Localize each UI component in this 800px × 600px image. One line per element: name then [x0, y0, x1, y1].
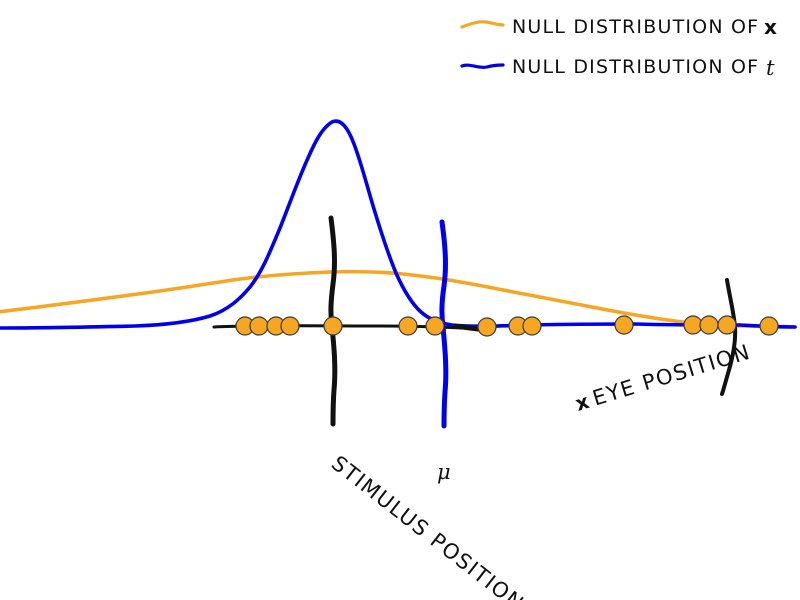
data-point	[700, 316, 718, 334]
data-point	[523, 317, 541, 335]
legend-variable-t: t	[766, 56, 775, 80]
x-eye-position-variable: x	[572, 389, 591, 416]
figure-root: NULL DISTRIBUTION OF x NULL DISTRIBUTION…	[0, 0, 800, 600]
eye-position-tick	[722, 280, 735, 394]
legend-label-x: NULL DISTRIBUTION OF	[512, 16, 759, 38]
data-point	[281, 317, 299, 335]
legend-entry-null-distribution-t: NULL DISTRIBUTION OF t	[462, 56, 775, 80]
blue-line-swatch	[462, 65, 503, 67]
data-point	[684, 316, 702, 334]
orange-line-swatch	[462, 22, 503, 27]
data-point	[478, 318, 496, 336]
legend-entry-null-distribution-x: NULL DISTRIBUTION OF x	[462, 15, 777, 39]
data-point	[615, 316, 633, 334]
chart-canvas: NULL DISTRIBUTION OF x NULL DISTRIBUTION…	[0, 0, 800, 600]
data-point	[718, 316, 736, 334]
legend-label-t: NULL DISTRIBUTION OF	[512, 56, 759, 78]
legend-variable-x: x	[764, 15, 777, 39]
mu-label: μ	[437, 460, 451, 484]
data-point	[399, 317, 417, 335]
stimulus-position-label: STIMULUS POSITION	[327, 451, 529, 600]
data-point	[760, 317, 778, 335]
legend: NULL DISTRIBUTION OF x NULL DISTRIBUTION…	[462, 15, 777, 80]
data-point	[426, 317, 444, 335]
data-point	[250, 317, 268, 335]
data-point	[324, 317, 342, 335]
